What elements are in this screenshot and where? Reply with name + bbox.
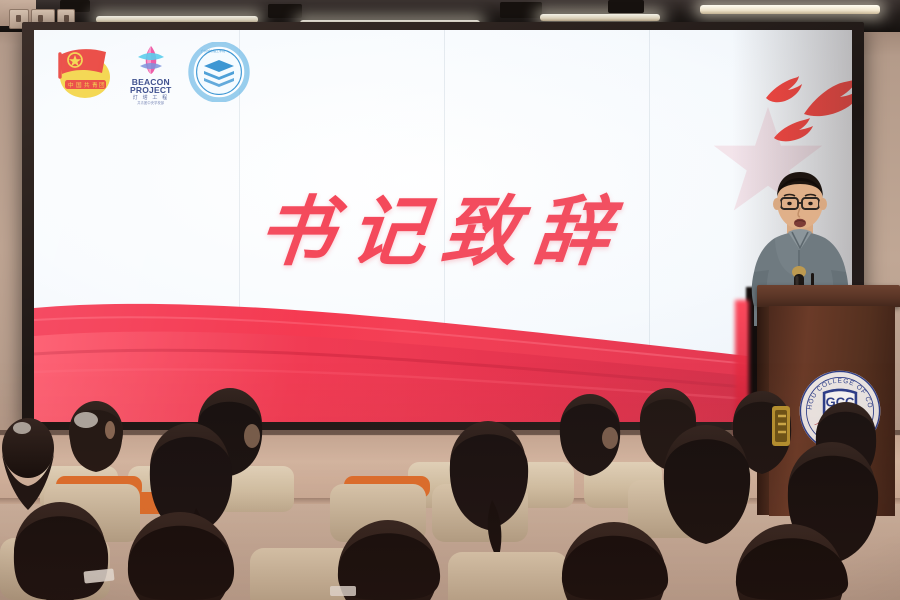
auditorium-photo: 中国 共青团 BEACON PROJECT	[0, 0, 900, 600]
college-seal-logo-icon: 广州城市理工学院	[188, 42, 250, 107]
led-screen-display: 中国 共青团 BEACON PROJECT	[34, 30, 852, 422]
svg-text:共: 共	[84, 81, 90, 89]
audience-member	[69, 401, 123, 472]
audience-seating-area	[0, 380, 900, 600]
svg-text:国: 国	[76, 82, 82, 89]
ceiling-light-fixture	[700, 5, 880, 14]
beacon-project-logo-icon: BEACON PROJECT 灯 塔 工 程 共青团中央学校部	[130, 44, 172, 105]
slide-logo-row: 中国 共青团 BEACON PROJECT	[52, 42, 250, 107]
flying-doves-icon	[752, 48, 852, 148]
ceiling-light-housing	[268, 4, 302, 18]
svg-text:中: 中	[68, 81, 74, 89]
beacon-en-line2: PROJECT	[130, 86, 172, 95]
svg-text:广州城市理工学院: 广州城市理工学院	[201, 48, 225, 53]
svg-text:团: 团	[99, 82, 105, 89]
hair-clip	[772, 406, 790, 446]
ceiling-light-housing	[608, 0, 644, 13]
ceiling-light-housing	[500, 2, 542, 18]
communist-youth-league-emblem-icon: 中国 共青团	[52, 43, 114, 106]
ceiling-light-fixture	[540, 14, 660, 21]
podium-top-surface	[757, 285, 900, 307]
svg-text:青: 青	[92, 81, 98, 89]
audience-member	[128, 512, 234, 600]
paper-on-armrest	[330, 586, 356, 596]
beacon-subtitle: 共青团中央学校部	[130, 102, 172, 105]
